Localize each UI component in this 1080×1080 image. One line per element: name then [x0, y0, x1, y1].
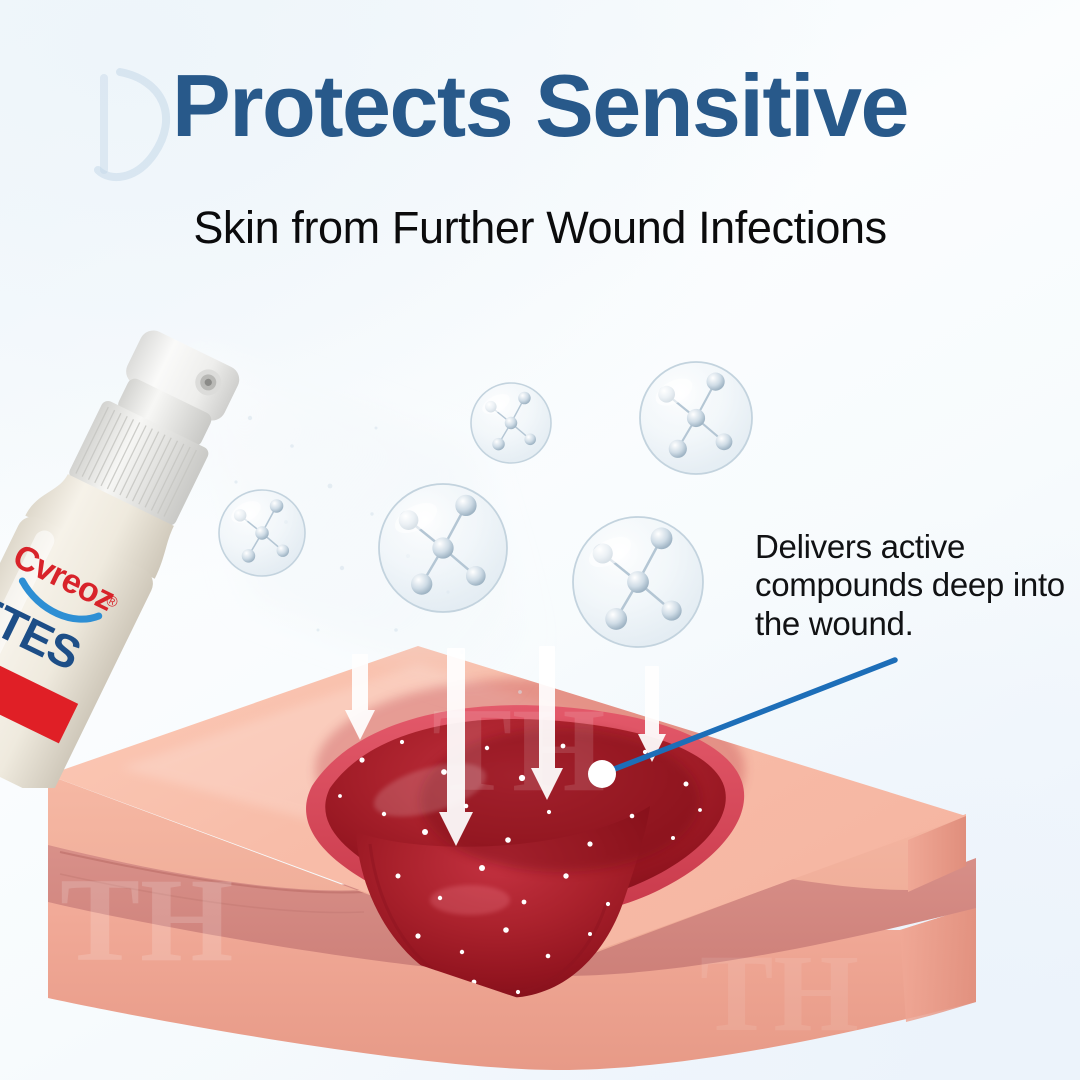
down-arrow: [345, 654, 375, 740]
svg-text:TH: TH: [700, 932, 859, 1054]
down-arrow: [638, 666, 666, 762]
down-arrow: [531, 646, 563, 800]
infographic-canvas: TH TH TH: [0, 0, 1080, 1080]
molecule-bubble: [379, 484, 507, 612]
page-headline: Protects Sensitive: [0, 62, 1080, 150]
molecule-bubble: [471, 383, 551, 463]
molecule-bubble: [573, 517, 703, 647]
molecule-bubble: [640, 362, 752, 474]
page-subheadline: Skin from Further Wound Infections: [0, 203, 1080, 253]
penetration-arrows: [0, 640, 1080, 940]
down-arrow: [439, 648, 473, 846]
annotation-callout-text: Delivers active compounds deep into the …: [755, 528, 1075, 643]
